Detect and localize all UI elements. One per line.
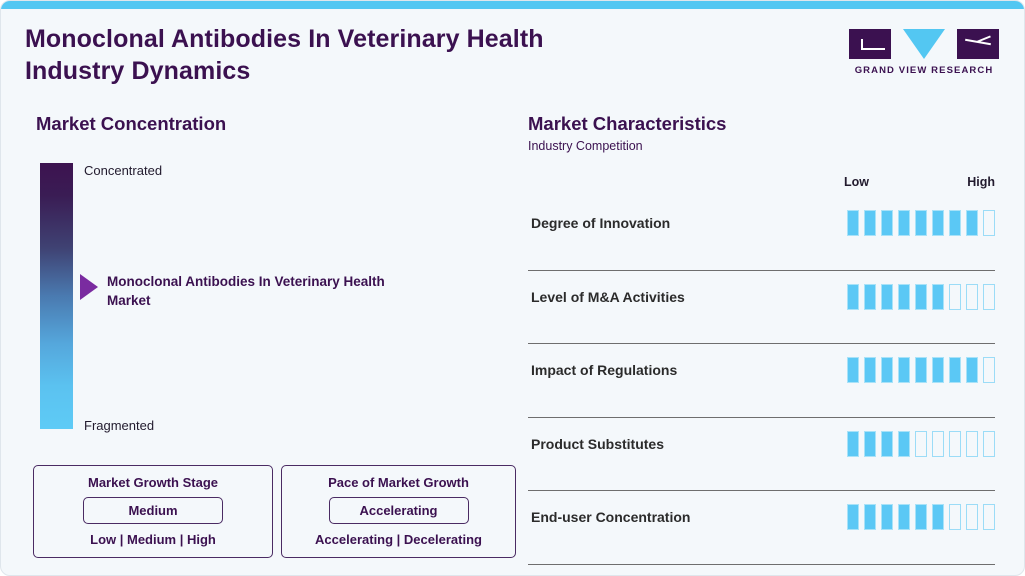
intensity-segment — [847, 504, 859, 530]
pace-of-market-growth-box: Pace of Market Growth Accelerating Accel… — [281, 465, 516, 558]
intensity-segment — [983, 284, 995, 310]
intensity-segment — [949, 210, 961, 236]
scale-low-label: Low — [844, 175, 869, 189]
intensity-meter — [847, 284, 995, 310]
intensity-segment — [932, 357, 944, 383]
intensity-segment — [983, 431, 995, 457]
market-characteristics-rows: Degree of InnovationLevel of M&A Activit… — [528, 197, 995, 565]
triangle-right-icon — [80, 274, 98, 300]
market-characteristics-panel: Market Characteristics Industry Competit… — [528, 113, 995, 565]
scale-high-label: High — [967, 175, 995, 189]
intensity-segment — [864, 431, 876, 457]
intensity-segment — [983, 357, 995, 383]
characteristic-label: Degree of Innovation — [531, 215, 670, 231]
logo-wordmark: GRAND VIEW RESEARCH — [849, 65, 999, 76]
intensity-segment — [915, 431, 927, 457]
page-title-line-1: Monoclonal Antibodies In Veterinary Heal… — [25, 25, 544, 53]
intensity-segment — [847, 284, 859, 310]
market-growth-stage-box: Market Growth Stage Medium Low | Medium … — [33, 465, 273, 558]
market-position-label: Monoclonal Antibodies In Veterinary Heal… — [107, 273, 417, 310]
intensity-segment — [966, 357, 978, 383]
intensity-segment — [864, 284, 876, 310]
logo-block-left-icon — [849, 29, 891, 59]
intensity-segment — [932, 431, 944, 457]
characteristic-label: End-user Concentration — [531, 509, 690, 525]
intensity-segment — [915, 284, 927, 310]
intensity-segment — [881, 357, 893, 383]
intensity-segment — [898, 431, 910, 457]
intensity-segment — [898, 210, 910, 236]
infographic-page: Monoclonal Antibodies In Veterinary Heal… — [0, 0, 1025, 576]
intensity-segment — [966, 504, 978, 530]
intensity-segment — [949, 504, 961, 530]
intensity-segment — [966, 431, 978, 457]
market-growth-stage-options: Low | Medium | High — [46, 532, 260, 547]
growth-summary-boxes: Market Growth Stage Medium Low | Medium … — [33, 465, 516, 558]
intensity-segment — [847, 210, 859, 236]
market-concentration-title: Market Concentration — [36, 113, 516, 135]
intensity-segment — [915, 210, 927, 236]
intensity-segment — [983, 210, 995, 236]
intensity-meter — [847, 210, 995, 236]
intensity-segment — [949, 357, 961, 383]
table-row: End-user Concentration — [528, 491, 995, 565]
intensity-segment — [881, 210, 893, 236]
logo-marks — [849, 29, 999, 59]
market-growth-stage-title: Market Growth Stage — [46, 475, 260, 490]
concentration-scale: Concentrated Fragmented Monoclonal Antib… — [36, 163, 516, 433]
intensity-segment — [847, 431, 859, 457]
characteristic-label: Level of M&A Activities — [531, 289, 685, 305]
page-title: Monoclonal Antibodies In Veterinary Heal… — [25, 23, 705, 87]
intensity-segment — [932, 284, 944, 310]
intensity-segment — [864, 357, 876, 383]
market-characteristics-subtitle: Industry Competition — [528, 139, 995, 153]
intensity-segment — [915, 357, 927, 383]
intensity-segment — [932, 210, 944, 236]
intensity-segment — [847, 357, 859, 383]
intensity-segment — [898, 357, 910, 383]
characteristic-label: Impact of Regulations — [531, 362, 677, 378]
top-accent-bar — [1, 1, 1024, 9]
intensity-segment — [983, 504, 995, 530]
concentration-top-label: Concentrated — [84, 163, 162, 178]
concentration-bottom-label: Fragmented — [84, 418, 154, 433]
market-growth-stage-value: Medium — [83, 497, 223, 524]
intensity-meter — [847, 357, 995, 383]
market-position-marker: Monoclonal Antibodies In Veterinary Heal… — [80, 273, 417, 310]
market-concentration-panel: Market Concentration Concentrated Fragme… — [36, 113, 516, 433]
page-title-line-2: Industry Dynamics — [25, 57, 250, 85]
intensity-scale-header: Low High — [528, 175, 995, 197]
market-characteristics-title: Market Characteristics — [528, 113, 995, 135]
pace-of-market-growth-title: Pace of Market Growth — [294, 475, 503, 490]
intensity-segment — [949, 431, 961, 457]
intensity-meter — [847, 504, 995, 530]
intensity-segment — [966, 210, 978, 236]
pace-of-market-growth-options: Accelerating | Decelerating — [294, 532, 503, 547]
intensity-segment — [898, 504, 910, 530]
intensity-segment — [915, 504, 927, 530]
table-row: Degree of Innovation — [528, 197, 995, 271]
logo-triangle-icon — [903, 29, 945, 59]
intensity-segment — [881, 431, 893, 457]
intensity-segment — [966, 284, 978, 310]
intensity-segment — [898, 284, 910, 310]
intensity-meter — [847, 431, 995, 457]
characteristic-label: Product Substitutes — [531, 436, 664, 452]
intensity-segment — [881, 284, 893, 310]
table-row: Impact of Regulations — [528, 344, 995, 418]
page-header: Monoclonal Antibodies In Veterinary Heal… — [25, 23, 705, 87]
table-row: Product Substitutes — [528, 418, 995, 492]
intensity-segment — [864, 210, 876, 236]
logo-block-right-icon — [957, 29, 999, 59]
intensity-segment — [864, 504, 876, 530]
table-row: Level of M&A Activities — [528, 271, 995, 345]
brand-logo: GRAND VIEW RESEARCH — [849, 29, 999, 76]
intensity-segment — [932, 504, 944, 530]
concentration-gradient-bar — [40, 163, 73, 429]
intensity-segment — [949, 284, 961, 310]
pace-of-market-growth-value: Accelerating — [329, 497, 469, 524]
intensity-segment — [881, 504, 893, 530]
